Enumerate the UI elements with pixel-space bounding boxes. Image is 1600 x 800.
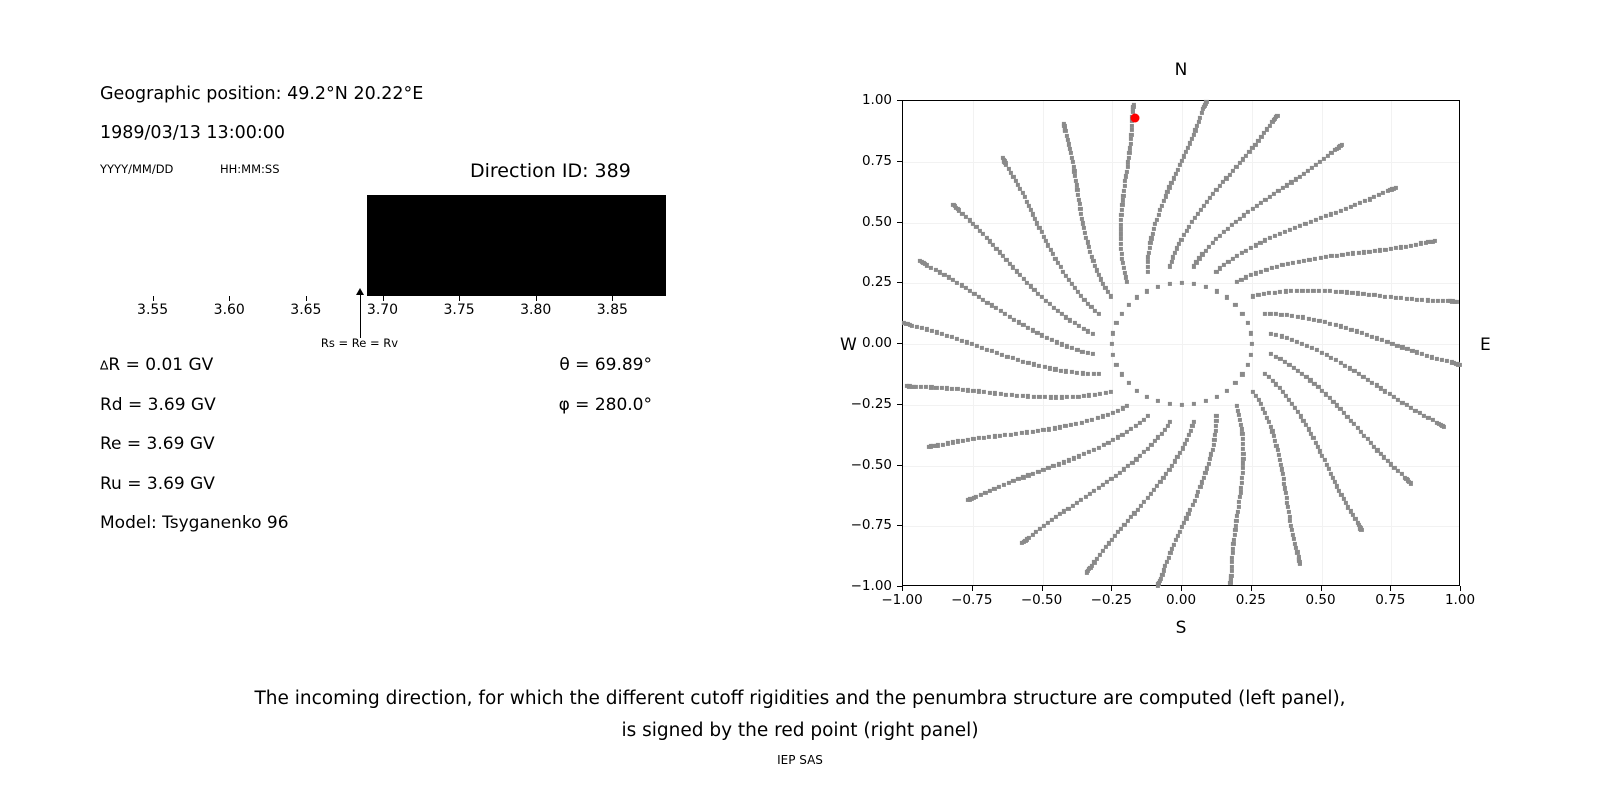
direction-point <box>919 385 923 389</box>
direction-point <box>1324 255 1328 259</box>
direction-point <box>1153 222 1157 226</box>
penumbra-tick <box>612 296 613 301</box>
direction-point <box>1453 300 1457 304</box>
direction-point <box>1057 462 1061 466</box>
direction-point <box>1046 521 1050 525</box>
direction-point <box>1348 205 1352 209</box>
direction-point <box>985 347 989 351</box>
direction-point <box>1334 210 1338 214</box>
direction-point <box>1086 569 1090 573</box>
direction-point <box>1078 202 1082 206</box>
direction-point <box>1044 299 1048 303</box>
direction-point <box>915 325 919 329</box>
direction-point <box>1119 232 1123 236</box>
direction-point <box>1295 550 1299 554</box>
direction-point <box>1329 356 1333 360</box>
direction-point <box>1198 485 1202 489</box>
penumbra-tick-label: 3.70 <box>367 302 398 318</box>
direction-point <box>1083 231 1087 235</box>
direction-point <box>960 339 964 343</box>
direction-point <box>985 300 989 304</box>
direction-point <box>1058 425 1062 429</box>
direction-point <box>1286 262 1290 266</box>
direction-point <box>940 386 944 390</box>
direction-point <box>1020 191 1024 195</box>
direction-point <box>1182 154 1186 158</box>
direction-point <box>988 239 992 243</box>
direction-point <box>1359 430 1363 434</box>
direction-point <box>1308 220 1312 224</box>
direction-point <box>1263 238 1267 242</box>
direction-point <box>1126 381 1130 385</box>
date-format-hint: YYYY/MM/DD <box>100 162 173 176</box>
direction-point <box>1291 261 1295 265</box>
direction-point <box>1339 290 1343 294</box>
direction-point <box>1265 127 1269 131</box>
direction-point <box>1240 476 1244 480</box>
direction-point <box>1101 414 1105 418</box>
caption-line-2: is signed by the red point (right panel) <box>0 715 1600 747</box>
direction-point <box>1274 333 1278 337</box>
direction-point <box>1021 475 1025 479</box>
direction-point <box>1123 184 1127 188</box>
direction-point <box>1025 430 1029 434</box>
direction-point <box>1236 509 1240 513</box>
direction-point <box>1358 526 1362 530</box>
direction-point <box>1052 426 1056 430</box>
direction-point <box>1152 227 1156 231</box>
direction-point <box>992 434 996 438</box>
direction-point <box>991 243 995 247</box>
direction-point <box>1068 147 1072 151</box>
direction-point <box>981 298 985 302</box>
direction-point <box>1265 415 1269 419</box>
direction-point <box>1300 341 1304 345</box>
direction-point <box>1209 452 1213 456</box>
direction-point <box>1235 514 1239 518</box>
direction-point <box>1005 355 1009 359</box>
y-axis-tick-label: 0.75 <box>832 153 892 169</box>
direction-point <box>1435 356 1439 360</box>
direction-point <box>1121 198 1125 202</box>
direction-point <box>1121 406 1125 410</box>
direction-point <box>1273 234 1277 238</box>
selected-direction-point[interactable] <box>1131 113 1140 122</box>
direction-point <box>1075 183 1079 187</box>
direction-point <box>1170 260 1174 264</box>
direction-point <box>1244 154 1248 158</box>
direction-point <box>961 388 965 392</box>
direction-point <box>1274 444 1278 448</box>
direction-point <box>1037 395 1041 399</box>
direction-point <box>1311 289 1315 293</box>
direction-point <box>1285 496 1289 500</box>
direction-point <box>1060 312 1064 316</box>
direction-point <box>1344 501 1348 505</box>
gridline-vertical <box>1043 101 1044 585</box>
direction-point <box>1036 429 1040 433</box>
gridline-horizontal <box>903 466 1459 467</box>
direction-point <box>1270 266 1274 270</box>
direction-point <box>1241 452 1245 456</box>
direction-point <box>1343 363 1347 367</box>
direction-point <box>1130 124 1134 128</box>
direction-point <box>987 435 991 439</box>
direction-point <box>1048 395 1052 399</box>
direction-point <box>1051 252 1055 256</box>
direction-point <box>1233 528 1237 532</box>
direction-point <box>1066 506 1070 510</box>
direction-point <box>1262 131 1266 135</box>
direction-point <box>1079 212 1083 216</box>
direction-point <box>1204 285 1208 289</box>
direction-grid-plot[interactable] <box>902 100 1460 586</box>
direction-point <box>1048 366 1052 370</box>
direction-point <box>1225 295 1229 299</box>
direction-point <box>1064 369 1068 373</box>
penumbra-tick <box>383 296 384 301</box>
direction-point <box>1192 419 1196 423</box>
direction-point <box>1087 245 1091 249</box>
direction-point <box>1214 237 1218 241</box>
direction-point <box>998 392 1002 396</box>
direction-point <box>1021 360 1025 364</box>
direction-point <box>970 342 974 346</box>
direction-point <box>1197 256 1201 260</box>
direction-point <box>1063 424 1067 428</box>
direction-point <box>1234 524 1238 528</box>
direction-point <box>1072 456 1076 460</box>
direction-point <box>955 337 959 341</box>
direction-point <box>1218 234 1222 238</box>
direction-point <box>1192 264 1196 268</box>
direction-point <box>1120 256 1124 260</box>
direction-point <box>1001 157 1005 161</box>
direction-point <box>1436 299 1440 303</box>
direction-point <box>945 386 949 390</box>
direction-point <box>1197 120 1201 124</box>
direction-point <box>1410 349 1414 353</box>
x-axis-tick-label: −0.75 <box>951 592 992 608</box>
direction-point <box>1041 468 1045 472</box>
direction-point <box>1060 342 1064 346</box>
direction-point <box>1120 208 1124 212</box>
direction-point <box>1142 450 1146 454</box>
penumbra-tick <box>153 296 154 301</box>
direction-point <box>1125 165 1129 169</box>
direction-point <box>1310 346 1314 350</box>
direction-point <box>1291 533 1295 537</box>
direction-point <box>1249 246 1253 250</box>
direction-point <box>1146 414 1150 418</box>
direction-point <box>1029 208 1033 212</box>
direction-point <box>1415 297 1419 301</box>
x-axis-tick-label: 0.00 <box>1166 592 1196 608</box>
direction-point <box>1215 289 1219 293</box>
direction-point <box>1075 348 1079 352</box>
parameter-list: ∆R = 0.01 GVθ = 69.89°Rd = 3.69 GVφ = 28… <box>100 355 660 553</box>
direction-point <box>1076 290 1080 294</box>
direction-point <box>1177 242 1181 246</box>
direction-point <box>1288 228 1292 232</box>
direction-point <box>1377 193 1381 197</box>
direction-point <box>1386 459 1390 463</box>
direction-point <box>1234 519 1238 523</box>
direction-point <box>1068 318 1072 322</box>
parameter-row: ∆R = 0.01 GVθ = 69.89° <box>100 355 660 395</box>
direction-point <box>1097 486 1101 490</box>
direction-point <box>1240 481 1244 485</box>
x-axis-tick <box>1042 586 1043 591</box>
direction-point <box>1329 151 1333 155</box>
direction-point <box>1095 268 1099 272</box>
direction-point <box>1073 174 1077 178</box>
direction-point <box>1087 393 1091 397</box>
x-axis-tick-label: −1.00 <box>881 592 922 608</box>
direction-point <box>1065 344 1069 348</box>
x-axis-tick <box>1390 586 1391 591</box>
direction-point <box>1440 424 1444 428</box>
direction-point <box>1092 560 1096 564</box>
direction-point <box>1263 312 1267 316</box>
direction-point <box>1026 394 1030 398</box>
direction-point <box>1212 438 1216 442</box>
direction-point <box>1155 484 1159 488</box>
direction-point <box>1129 137 1133 141</box>
x-axis-tick-label: 0.75 <box>1375 592 1405 608</box>
direction-point <box>1205 200 1209 204</box>
direction-point <box>1016 183 1020 187</box>
direction-point <box>956 439 960 443</box>
y-axis-tick-label: 1.00 <box>832 92 892 108</box>
direction-point <box>1138 454 1142 458</box>
footer-credit: IEP SAS <box>0 753 1600 767</box>
direction-point <box>1333 323 1337 327</box>
direction-point <box>1000 353 1004 357</box>
direction-point <box>1293 225 1297 229</box>
direction-point <box>1314 163 1318 167</box>
gridline-horizontal <box>903 223 1459 224</box>
direction-point <box>1392 186 1396 190</box>
penumbra-tick-label: 3.75 <box>444 302 475 318</box>
direction-point <box>1125 404 1129 408</box>
direction-point <box>1381 191 1385 195</box>
x-axis-tick-label: 1.00 <box>1445 592 1475 608</box>
y-axis-tick <box>897 222 902 223</box>
direction-point <box>1122 266 1126 270</box>
direction-point <box>1110 342 1114 346</box>
direction-point <box>974 225 978 229</box>
direction-point <box>1346 252 1350 256</box>
direction-point <box>1279 463 1283 467</box>
figure-root: Geographic position: 49.2°N 20.22°E 1989… <box>0 0 1600 800</box>
direction-point <box>1055 340 1059 344</box>
direction-point <box>1253 142 1257 146</box>
direction-point <box>1353 203 1357 207</box>
direction-point <box>1297 560 1301 564</box>
direction-point <box>1003 433 1007 437</box>
direction-point <box>941 442 945 446</box>
parameter-left-value: ∆R = 0.01 GV <box>100 355 213 375</box>
direction-point <box>1131 104 1135 108</box>
direction-point <box>1245 321 1249 325</box>
direction-point <box>1280 263 1284 267</box>
direction-point <box>1251 294 1255 298</box>
direction-point <box>1415 350 1419 354</box>
direction-point <box>1375 336 1379 340</box>
direction-point <box>1147 246 1151 250</box>
direction-point <box>1095 416 1099 420</box>
direction-point <box>1213 433 1217 437</box>
direction-point <box>1249 331 1253 335</box>
direction-point <box>1338 144 1342 148</box>
direction-point <box>1233 381 1237 385</box>
direction-point <box>1345 415 1349 419</box>
direction-point <box>1253 243 1257 247</box>
direction-point <box>1241 437 1245 441</box>
direction-point <box>1053 257 1057 261</box>
direction-point <box>1119 242 1123 246</box>
direction-point <box>1361 375 1365 379</box>
direction-point <box>1334 289 1338 293</box>
direction-point <box>1395 344 1399 348</box>
direction-point <box>934 268 938 272</box>
direction-point <box>1289 289 1293 293</box>
direction-point <box>1353 517 1357 521</box>
parameter-left-value: Rd = 3.69 GV <box>100 395 216 415</box>
direction-point <box>1178 163 1182 167</box>
direction-point <box>1025 199 1029 203</box>
direction-point <box>1200 480 1204 484</box>
direction-point <box>1165 190 1169 194</box>
right-panel: N S W E 1.000.750.500.250.00−0.25−0.50−0… <box>820 0 1600 660</box>
direction-point <box>1269 425 1273 429</box>
direction-point <box>1192 402 1196 406</box>
direction-point <box>1285 313 1289 317</box>
direction-point <box>1147 251 1151 255</box>
direction-point <box>1019 431 1023 435</box>
direction-point <box>1130 128 1134 132</box>
direction-point <box>1074 422 1078 426</box>
direction-point <box>1081 221 1085 225</box>
direction-point <box>1121 261 1125 265</box>
direction-point <box>1018 187 1022 191</box>
direction-point <box>1378 294 1382 298</box>
direction-point <box>1120 433 1124 437</box>
direction-point <box>1214 414 1218 418</box>
direction-point <box>1278 458 1282 462</box>
direction-point <box>1283 360 1287 364</box>
direction-point <box>1335 253 1339 257</box>
direction-point <box>1176 167 1180 171</box>
direction-point <box>1273 439 1277 443</box>
direction-point <box>1129 515 1133 519</box>
direction-point <box>929 385 933 389</box>
parameter-left-value: Ru = 3.69 GV <box>100 474 215 494</box>
direction-point <box>1328 321 1332 325</box>
direction-point <box>1225 388 1229 392</box>
direction-point <box>1298 223 1302 227</box>
direction-point <box>1267 291 1271 295</box>
direction-point <box>1103 391 1107 395</box>
parameter-row: Model: Tsyganenko 96 <box>100 513 660 553</box>
direction-point <box>1156 285 1160 289</box>
direction-point <box>1002 483 1006 487</box>
direction-point <box>1239 277 1243 281</box>
direction-point <box>1085 240 1089 244</box>
direction-point <box>1240 372 1244 376</box>
direction-point <box>1407 480 1411 484</box>
direction-point <box>1011 175 1015 179</box>
direction-point <box>1033 217 1037 221</box>
direction-point <box>960 212 964 216</box>
direction-point <box>1010 356 1014 360</box>
direction-point <box>1155 217 1159 221</box>
direction-point <box>1273 290 1277 294</box>
direction-point <box>1275 265 1279 269</box>
direction-point <box>1082 226 1086 230</box>
y-axis-tick <box>897 404 902 405</box>
direction-point <box>1045 336 1049 340</box>
direction-point <box>1151 232 1155 236</box>
direction-point <box>1129 133 1133 137</box>
direction-point <box>1128 146 1132 150</box>
direction-point <box>930 329 934 333</box>
direction-point <box>1399 296 1403 300</box>
direction-point <box>1237 413 1241 417</box>
direction-point <box>1274 312 1278 316</box>
direction-point <box>1339 361 1343 365</box>
penumbra-tick-label: 3.55 <box>137 302 168 318</box>
direction-point <box>1300 372 1304 376</box>
direction-point <box>1169 181 1173 185</box>
direction-point <box>1034 530 1038 534</box>
direction-point <box>1026 326 1030 330</box>
y-axis-tick-label: 0.50 <box>832 214 892 230</box>
direction-point <box>1135 388 1139 392</box>
direction-point <box>1192 282 1196 286</box>
direction-point <box>1182 521 1186 525</box>
direction-point <box>1047 302 1051 306</box>
direction-point <box>1231 542 1235 546</box>
y-axis-tick-label: 0.00 <box>832 335 892 351</box>
direction-point <box>1231 547 1235 551</box>
direction-point <box>1334 358 1338 362</box>
direction-point <box>1171 255 1175 259</box>
direction-point <box>1026 361 1030 365</box>
direction-point <box>1394 295 1398 299</box>
direction-point <box>1036 292 1040 296</box>
direction-point <box>1119 213 1123 217</box>
direction-point <box>988 391 992 395</box>
direction-point <box>1241 447 1245 451</box>
direction-point <box>1040 333 1044 337</box>
direction-point <box>1072 165 1076 169</box>
direction-point <box>924 385 928 389</box>
direction-point <box>1145 289 1149 293</box>
direction-point <box>1127 156 1131 160</box>
direction-point <box>1290 338 1294 342</box>
direction-point <box>1214 419 1218 423</box>
direction-point <box>1145 395 1149 399</box>
direction-point <box>1245 363 1249 367</box>
direction-point <box>1187 433 1191 437</box>
direction-point <box>1182 233 1186 237</box>
direction-point <box>1121 193 1125 197</box>
y-axis-tick-label: 0.25 <box>832 274 892 290</box>
direction-point <box>988 489 992 493</box>
direction-point <box>929 266 933 270</box>
